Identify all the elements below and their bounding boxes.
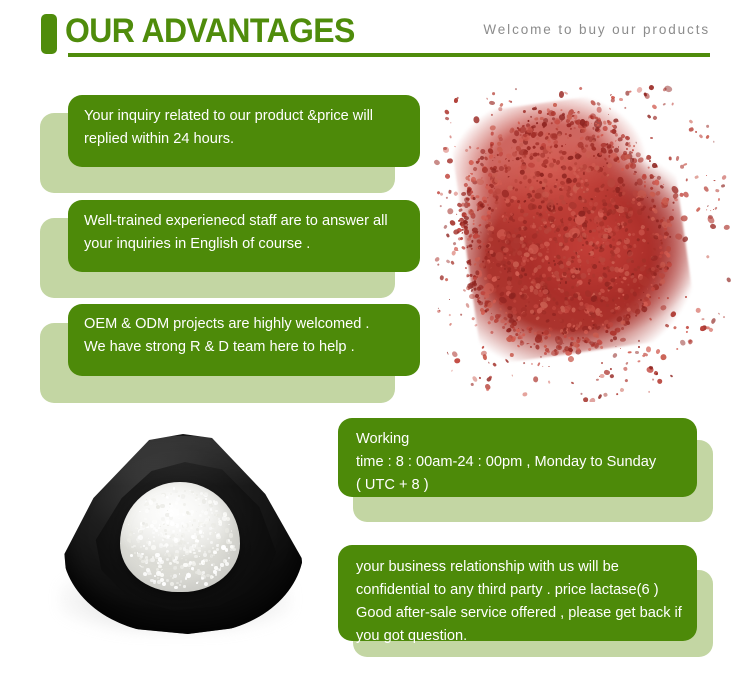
powder-grain	[153, 527, 156, 530]
powder-granule	[550, 349, 559, 357]
powder-grain	[228, 540, 230, 542]
powder-granule	[610, 368, 612, 370]
powder-grain	[134, 552, 135, 553]
powder-grain	[205, 498, 207, 500]
powder-granule	[499, 307, 502, 311]
powder-granule	[568, 112, 570, 114]
powder-grain	[164, 529, 167, 532]
powder-granule	[490, 261, 491, 262]
header-divider-rule	[68, 53, 710, 57]
powder-grain	[170, 493, 171, 494]
powder-granule	[659, 268, 662, 271]
powder-granule	[721, 174, 728, 181]
powder-grain	[177, 514, 179, 516]
powder-grain	[172, 557, 174, 559]
powder-granule	[610, 97, 615, 102]
powder-grain	[151, 545, 155, 549]
powder-granule	[548, 381, 550, 384]
powder-granule	[587, 272, 590, 275]
powder-granule	[700, 326, 704, 331]
powder-granule	[670, 375, 674, 378]
powder-grain	[153, 540, 155, 542]
powder-granule	[659, 272, 665, 278]
powder-grain	[210, 508, 212, 510]
powder-granule	[605, 188, 608, 191]
powder-granule	[452, 241, 456, 245]
powder-grain	[189, 568, 190, 569]
advantage-text: your business relationship with us will …	[356, 556, 688, 648]
powder-granule	[445, 277, 449, 281]
powder-granule	[696, 207, 701, 212]
powder-grain	[144, 573, 146, 575]
powder-grain	[164, 554, 166, 556]
powder-granule	[594, 245, 597, 249]
powder-granule	[663, 85, 673, 94]
powder-granule	[560, 109, 563, 111]
powder-granule	[597, 106, 603, 112]
powder-granule	[612, 352, 618, 358]
powder-grain	[203, 545, 207, 549]
powder-grain	[189, 521, 190, 522]
powder-grain	[219, 569, 220, 570]
powder-granule	[709, 223, 717, 230]
powder-grain	[140, 546, 142, 548]
powder-grain	[140, 566, 141, 567]
powder-grain	[181, 494, 185, 498]
powder-grain	[183, 503, 186, 506]
powder-granule	[610, 129, 614, 133]
powder-grain	[201, 535, 204, 538]
powder-grain	[192, 524, 194, 526]
powder-granule	[559, 91, 565, 98]
powder-grain	[185, 549, 189, 553]
powder-grain	[212, 576, 214, 578]
powder-granule	[535, 333, 541, 339]
powder-grain	[228, 524, 229, 525]
powder-granule	[444, 109, 450, 115]
powder-granule	[444, 173, 451, 180]
powder-granule	[483, 277, 487, 281]
powder-granule	[607, 178, 615, 187]
powder-grain	[199, 556, 201, 558]
powder-granule	[491, 208, 494, 211]
powder-grain	[197, 535, 202, 540]
powder-grain	[176, 497, 180, 501]
powder-granule	[531, 363, 534, 366]
powder-granule	[486, 253, 490, 257]
powder-grain	[230, 549, 232, 551]
powder-grain	[129, 533, 132, 536]
powder-granule	[618, 288, 622, 292]
powder-granule	[465, 274, 470, 279]
powder-granule	[666, 261, 672, 267]
powder-grain	[205, 521, 209, 525]
powder-grain	[157, 500, 158, 501]
powder-grain	[204, 582, 208, 586]
powder-granule	[659, 353, 667, 361]
powder-granule	[540, 355, 543, 358]
powder-grain	[184, 490, 186, 492]
powder-grain	[188, 530, 190, 532]
powder-granule	[610, 374, 615, 379]
powder-grain	[197, 498, 200, 501]
powder-granule	[460, 314, 463, 317]
powder-granule	[586, 188, 590, 191]
powder-granule	[579, 87, 584, 92]
powder-granule	[504, 256, 507, 259]
powder-granule	[600, 373, 605, 377]
powder-granule	[560, 222, 564, 226]
powder-grain	[197, 571, 201, 575]
powder-granule	[453, 98, 457, 103]
powder-grain	[181, 535, 183, 537]
powder-grain	[226, 517, 230, 521]
powder-granule	[457, 97, 459, 99]
powder-grain	[213, 550, 217, 554]
powder-granule	[613, 147, 619, 152]
powder-granule	[638, 346, 640, 348]
powder-granule	[537, 362, 541, 366]
powder-grain	[174, 566, 177, 569]
powder-grain	[167, 525, 168, 526]
powder-granule	[438, 307, 439, 308]
powder-granule	[450, 260, 455, 265]
powder-granule	[449, 314, 451, 316]
powder-grain	[205, 559, 208, 562]
powder-granule	[461, 192, 467, 196]
powder-grain	[137, 539, 140, 542]
powder-granule	[628, 350, 632, 353]
powder-granule	[541, 274, 546, 278]
powder-grain	[172, 530, 175, 533]
powder-grain	[190, 527, 193, 530]
powder-granule	[489, 375, 493, 379]
powder-grain	[150, 573, 152, 575]
powder-granule	[462, 288, 466, 292]
powder-grain	[181, 522, 184, 525]
powder-granule	[623, 106, 626, 109]
powder-grain	[229, 533, 233, 537]
powder-grain	[166, 547, 167, 548]
powder-grain	[183, 555, 184, 556]
powder-granule	[500, 183, 502, 185]
powder-granule	[702, 186, 709, 194]
powder-grain	[202, 499, 207, 504]
powder-granule	[446, 197, 449, 200]
powder-granule	[706, 124, 710, 128]
powder-granule	[480, 350, 487, 356]
powder-grain	[157, 577, 159, 579]
powder-grain	[198, 550, 200, 552]
powder-granule	[615, 139, 617, 141]
white-powder-product-image	[36, 412, 326, 674]
powder-granule	[565, 277, 570, 282]
powder-granule	[678, 339, 686, 347]
powder-granule	[603, 393, 609, 398]
powder-grain	[162, 582, 166, 586]
powder-granule	[472, 375, 478, 382]
powder-granule	[688, 339, 694, 345]
header-accent-bar	[41, 14, 57, 54]
powder-granule	[720, 183, 725, 187]
powder-grain	[180, 580, 183, 583]
powder-granule	[467, 283, 473, 289]
advantage-text: Your inquiry related to our product &pri…	[84, 105, 406, 151]
powder-grain	[179, 509, 182, 512]
powder-granule	[547, 173, 552, 178]
powder-grain	[175, 556, 179, 560]
powder-grain	[181, 558, 183, 560]
powder-grain	[158, 562, 161, 565]
powder-grain	[153, 536, 155, 538]
powder-granule	[479, 376, 482, 379]
powder-grain	[203, 562, 205, 564]
powder-granule	[457, 231, 460, 234]
powder-granule	[541, 217, 547, 222]
powder-granule	[557, 307, 561, 311]
powder-grain	[190, 510, 194, 514]
powder-granule	[439, 205, 441, 207]
powder-granule	[497, 239, 500, 241]
powder-grain	[210, 554, 213, 557]
powder-granule	[537, 204, 541, 209]
powder-grain	[169, 562, 172, 565]
powder-granule	[596, 379, 599, 381]
powder-granule	[451, 369, 453, 371]
powder-granule	[619, 387, 624, 392]
powder-grain	[216, 535, 220, 539]
powder-granule	[579, 301, 584, 305]
powder-granule	[705, 254, 710, 259]
powder-grain	[219, 529, 220, 530]
powder-grain	[231, 530, 232, 531]
powder-grain	[186, 511, 188, 513]
powder-granule	[602, 126, 607, 131]
powder-granule	[449, 135, 452, 139]
powder-granule	[503, 253, 506, 256]
powder-grain	[139, 530, 143, 534]
powder-granule	[486, 98, 488, 100]
powder-granule	[457, 237, 461, 241]
powder-granule	[439, 275, 444, 281]
powder-granule	[522, 392, 528, 397]
powder-granule	[516, 199, 519, 203]
powder-granule	[515, 87, 518, 90]
powder-granule	[679, 165, 684, 169]
powder-granule	[646, 242, 649, 245]
powder-granule	[500, 236, 505, 240]
powder-granule	[488, 237, 493, 241]
powder-granule	[718, 313, 720, 315]
powder-granule	[449, 323, 453, 327]
powder-granule	[705, 134, 710, 139]
powder-granule	[635, 351, 639, 354]
powder-grain	[160, 504, 164, 508]
powder-grain	[199, 530, 203, 534]
powder-grain	[208, 500, 212, 504]
powder-granule	[676, 348, 679, 351]
powder-grain	[188, 517, 190, 519]
powder-grain	[152, 532, 154, 534]
powder-granule	[679, 192, 683, 197]
powder-grain	[199, 522, 203, 526]
powder-granule	[537, 110, 541, 115]
powder-granule	[582, 397, 588, 402]
powder-grain	[145, 523, 148, 526]
powder-granule	[581, 244, 583, 246]
powder-grain	[190, 551, 192, 553]
powder-grain	[149, 500, 153, 504]
powder-granule	[448, 219, 456, 227]
powder-granule	[582, 229, 585, 232]
powder-granule	[707, 205, 709, 207]
powder-granule	[509, 353, 513, 357]
powder-grain	[201, 577, 204, 580]
powder-granule	[646, 346, 651, 353]
powder-grain	[183, 585, 185, 587]
powder-granule	[648, 365, 652, 369]
powder-granule	[686, 179, 689, 183]
powder-grain	[211, 505, 212, 506]
powder-grain	[156, 568, 159, 571]
powder-granule	[512, 248, 516, 251]
powder-granule	[657, 378, 663, 384]
powder-grain	[191, 567, 194, 570]
powder-grain	[170, 522, 174, 526]
powder-grain	[203, 553, 207, 557]
powder-granule	[625, 164, 629, 170]
powder-granule	[610, 152, 618, 158]
powder-granule	[640, 299, 642, 301]
powder-granule	[553, 237, 558, 241]
powder-grain	[196, 533, 197, 534]
powder-granule	[465, 267, 467, 269]
powder-granule	[656, 219, 659, 223]
powder-granule	[471, 317, 475, 320]
powder-grain	[196, 494, 198, 496]
powder-grain	[161, 494, 165, 498]
powder-granule	[433, 256, 440, 263]
powder-granule	[582, 336, 584, 338]
powder-grain	[210, 541, 213, 544]
powder-granule	[548, 366, 550, 367]
powder-grain	[176, 507, 178, 509]
powder-granule	[439, 192, 443, 196]
powder-granule	[695, 131, 697, 134]
powder-grain	[178, 518, 180, 520]
powder-grain	[130, 554, 133, 557]
powder-grain	[155, 553, 159, 557]
powder-granule	[498, 106, 503, 110]
powder-granule	[696, 308, 701, 313]
powder-grain	[156, 505, 160, 509]
powder-grain	[185, 559, 187, 561]
powder-granule	[523, 362, 526, 365]
powder-granule	[597, 393, 603, 399]
powder-granule	[655, 348, 661, 354]
powder-granule	[571, 381, 575, 384]
powder-granule	[622, 366, 628, 372]
powder-grain	[228, 553, 229, 554]
powder-grain	[160, 578, 164, 582]
powder-granule	[577, 295, 581, 300]
powder-granule	[666, 296, 669, 299]
powder-granule	[446, 233, 450, 238]
powder-granule	[546, 246, 548, 248]
powder-grain	[214, 566, 217, 569]
powder-grain	[184, 543, 185, 544]
powder-granule	[596, 299, 598, 301]
powder-granule	[668, 156, 671, 160]
powder-granule	[477, 208, 479, 210]
powder-grain	[146, 499, 147, 500]
powder-granule	[718, 198, 721, 201]
powder-grain	[209, 519, 210, 520]
powder-grain	[174, 553, 177, 556]
powder-granule	[582, 232, 586, 237]
powder-granule	[437, 264, 440, 267]
powder-granule	[489, 101, 496, 106]
powder-grain	[128, 524, 129, 525]
powder-grain	[193, 549, 195, 551]
powder-granule	[592, 127, 594, 130]
powder-granule	[714, 206, 718, 210]
powder-grain	[179, 529, 181, 531]
powder-grain	[161, 517, 165, 521]
powder-grain	[179, 573, 180, 574]
powder-granule	[612, 246, 616, 250]
powder-grain	[172, 577, 174, 579]
powder-granule	[600, 361, 603, 364]
powder-granule	[573, 126, 575, 128]
powder-granule	[675, 233, 683, 240]
powder-granule	[577, 254, 580, 257]
powder-granule	[589, 396, 597, 402]
powder-grain	[220, 563, 223, 566]
powder-grain	[177, 534, 178, 535]
powder-grain	[192, 561, 195, 564]
powder-granule	[491, 114, 493, 116]
powder-grain	[168, 554, 171, 557]
powder-granule	[567, 355, 575, 363]
powder-grain	[213, 500, 215, 502]
powder-granule	[713, 140, 714, 142]
powder-granule	[550, 150, 552, 152]
powder-granule	[676, 156, 680, 162]
powder-grain	[178, 495, 180, 497]
powder-grain	[193, 493, 194, 494]
powder-grain	[199, 503, 201, 505]
powder-granule	[724, 224, 730, 230]
powder-granule	[465, 302, 470, 308]
header-tagline: Welcome to buy our products	[483, 22, 710, 37]
powder-granule	[504, 231, 509, 235]
powder-grain	[218, 544, 219, 545]
powder-grain	[139, 511, 140, 512]
powder-granule	[456, 213, 457, 215]
powder-granule	[671, 102, 674, 106]
powder-grain	[199, 563, 201, 565]
powder-grain	[164, 524, 166, 526]
powder-grain	[163, 535, 166, 538]
powder-granule	[492, 92, 495, 95]
powder-granule	[446, 207, 455, 216]
powder-grain	[162, 539, 164, 541]
powder-granule	[454, 358, 460, 364]
powder-granule	[714, 180, 716, 181]
powder-grain	[148, 538, 149, 539]
powder-granule	[648, 390, 649, 392]
